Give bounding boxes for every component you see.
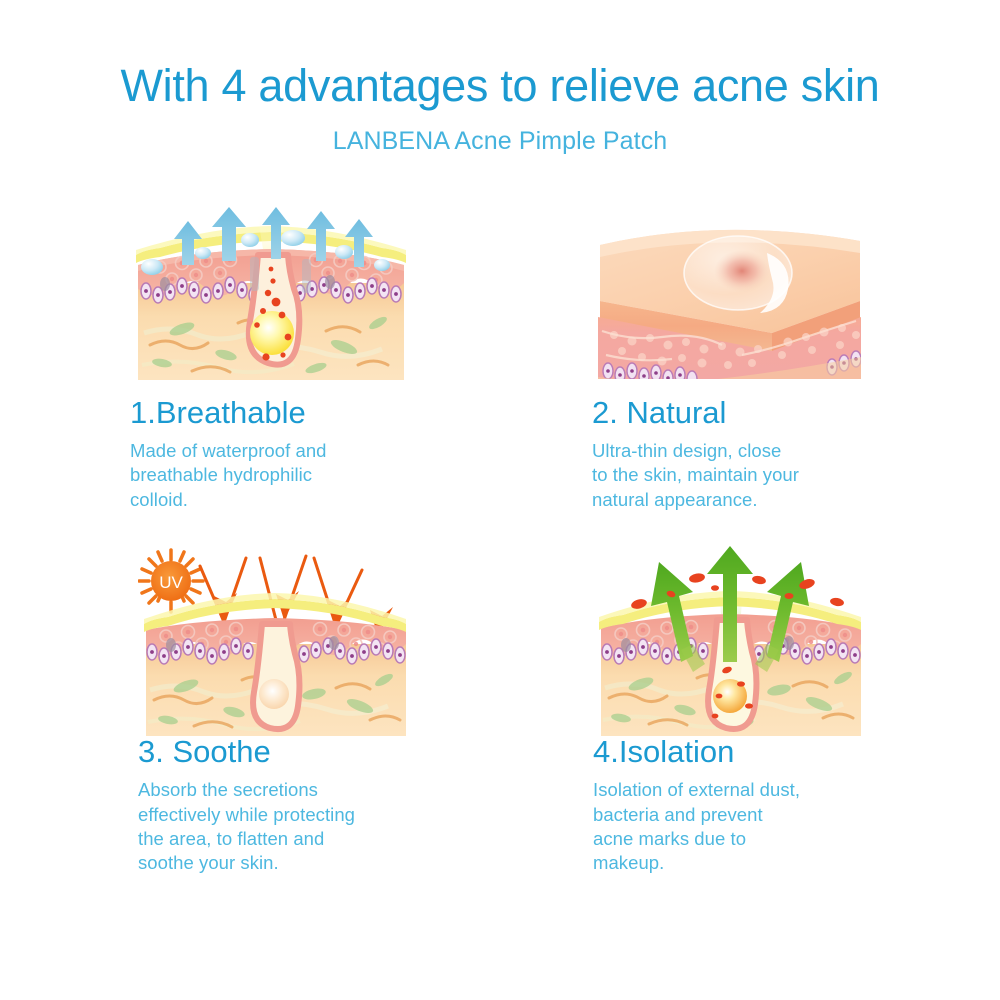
skin-cross-section-isolation-icon bbox=[593, 544, 868, 739]
page-subtitle: LANBENA Acne Pimple Patch bbox=[0, 127, 1000, 156]
page-title: With 4 advantages to relieve acne skin bbox=[0, 62, 1000, 109]
advantages-grid: 1.Breathable Made of waterproof and brea… bbox=[0, 205, 1000, 876]
panel-body-natural: Ultra-thin design, close to the skin, ma… bbox=[592, 439, 1000, 512]
infographic-page: With 4 advantages to relieve acne skin L… bbox=[0, 0, 1000, 1000]
panel-natural: 2. Natural Ultra-thin design, close to t… bbox=[0, 205, 1000, 512]
illustration-natural bbox=[592, 205, 867, 385]
header: With 4 advantages to relieve acne skin L… bbox=[0, 0, 1000, 156]
skin-block-with-patch-icon bbox=[592, 205, 867, 385]
illustration-isolation bbox=[593, 544, 875, 724]
panel-title-natural: 2. Natural bbox=[592, 397, 1000, 428]
panel-title-isolation: 4.Isolation bbox=[593, 736, 1000, 767]
panel-isolation: 4.Isolation Isolation of external dust, … bbox=[0, 544, 1000, 876]
panel-body-isolation: Isolation of external dust, bacteria and… bbox=[593, 778, 1000, 876]
